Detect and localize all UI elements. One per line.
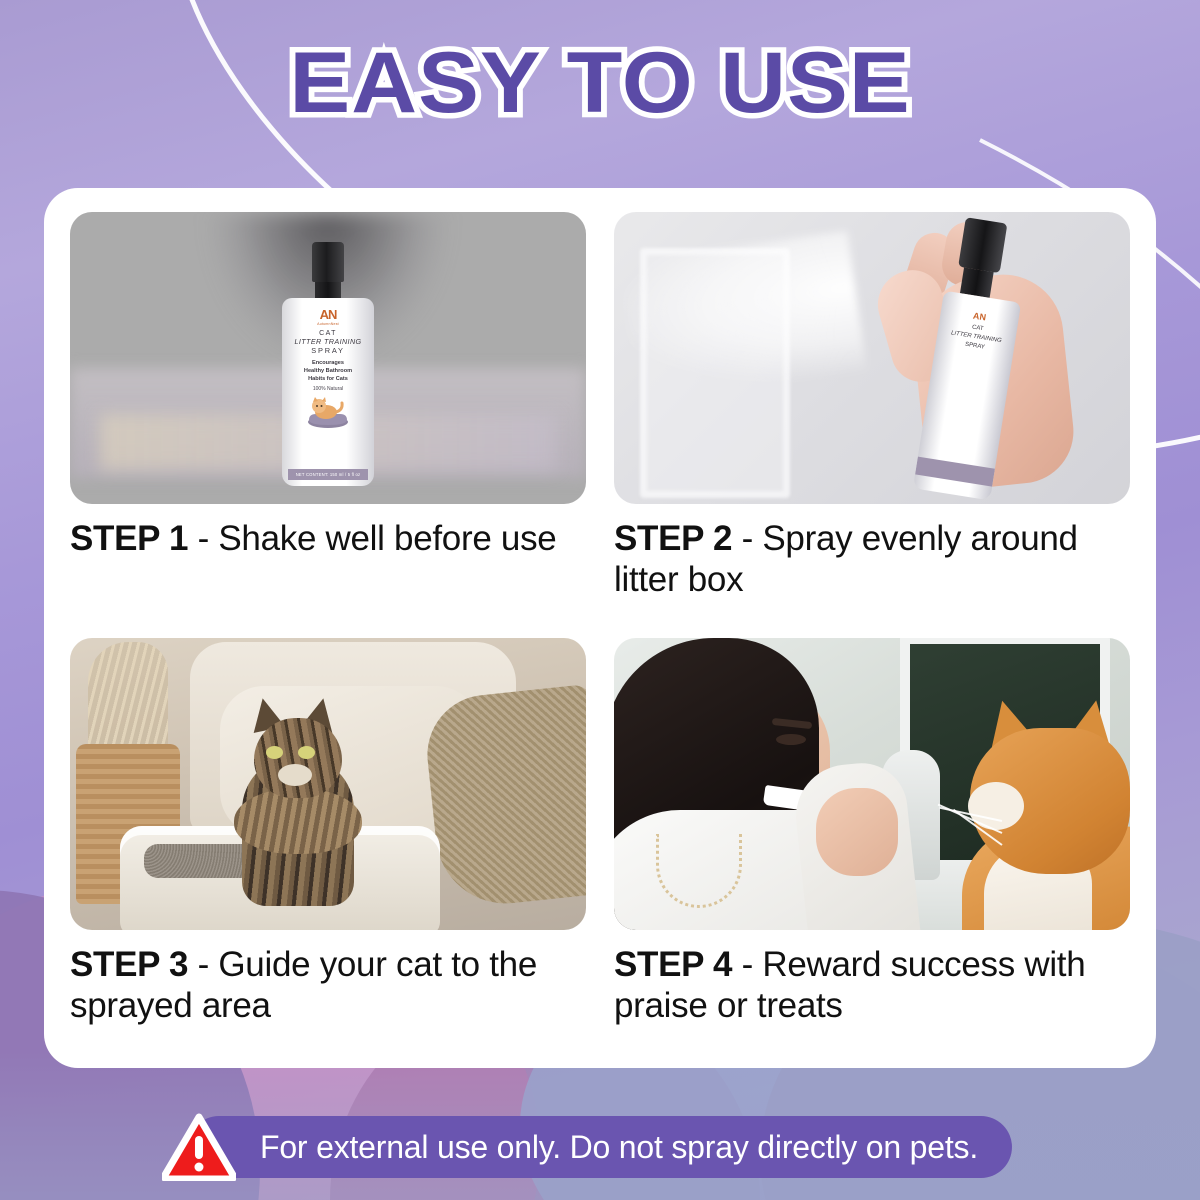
bottle-cap	[958, 217, 1007, 273]
cat-eye-right	[298, 746, 315, 759]
step-1-caption: STEP 1 - Shake well before use	[70, 518, 586, 559]
orange-cat	[922, 716, 1130, 930]
label-net-content-band	[915, 457, 995, 487]
step-1-lead: STEP 1	[70, 519, 188, 558]
label-desc-3: Habits for Cats	[308, 375, 348, 383]
label-cat-illustration	[305, 394, 351, 428]
bottle-body: AN AutumnNest CAT LITTER TRAINING SPRAY …	[282, 298, 374, 486]
brand-logo-name: AutumnNest	[317, 322, 339, 326]
cat-in-litter-box-photo	[70, 638, 586, 930]
woman	[614, 638, 894, 930]
label-net-content: NET CONTENT: 150 ml / 5 fl oz	[296, 472, 361, 477]
bottle-label-small: AN CAT LITTER TRAINING SPRAY	[944, 306, 1012, 356]
step-3-lead: STEP 3	[70, 945, 188, 984]
steps-card: AN AutumnNest CAT LITTER TRAINING SPRAY …	[44, 188, 1156, 1068]
bottle-label: AN AutumnNest CAT LITTER TRAINING SPRAY …	[288, 308, 368, 480]
step-4-caption: STEP 4 - Reward success with praise or t…	[614, 944, 1130, 1027]
woman-hand-with-treat	[816, 788, 898, 876]
cat-head	[254, 718, 342, 798]
step-2-lead: STEP 2	[614, 519, 732, 558]
brand-logo-mark: AN	[320, 308, 337, 321]
warning-triangle-icon	[162, 1113, 236, 1181]
label-natural-claim: 100% Natural	[313, 386, 343, 392]
step-4-lead: STEP 4	[614, 945, 732, 984]
header: EASY TO USE	[0, 0, 1200, 165]
cat-eye-left	[266, 746, 283, 759]
step-2: AN CAT LITTER TRAINING SPRAY STEP 2 - Sp…	[614, 212, 1130, 628]
tabby-cat	[228, 696, 364, 906]
label-line-cat: CAT	[319, 330, 337, 337]
step-2-caption: STEP 2 - Spray evenly around litter box	[614, 518, 1130, 601]
step-4: STEP 4 - Reward success with praise or t…	[614, 638, 1130, 1054]
page-title: EASY TO USE	[289, 40, 910, 126]
step-3: STEP 3 - Guide your cat to the sprayed a…	[70, 638, 586, 1054]
step-1-text: - Shake well before use	[188, 519, 556, 558]
warning-banner: For external use only. Do not spray dire…	[188, 1116, 1012, 1178]
label-desc-2: Healthy Bathroom	[304, 367, 352, 375]
spray-bottle-shaking-photo: AN AutumnNest CAT LITTER TRAINING SPRAY …	[70, 212, 586, 504]
label-line-spray: SPRAY	[311, 346, 345, 355]
cat-muzzle	[278, 764, 312, 786]
woven-pillow	[421, 684, 586, 911]
woman-rewarding-cat-photo	[614, 638, 1130, 930]
step-3-caption: STEP 3 - Guide your cat to the sprayed a…	[70, 944, 586, 1027]
label-line-litter-training: LITTER TRAINING	[294, 337, 361, 346]
warning-text: For external use only. Do not spray dire…	[260, 1129, 978, 1166]
woman-eye	[776, 734, 806, 745]
label-desc-1: Encourages	[312, 359, 344, 367]
step-1: AN AutumnNest CAT LITTER TRAINING SPRAY …	[70, 212, 586, 628]
bottle-cap	[312, 242, 344, 282]
product-bottle: AN AutumnNest CAT LITTER TRAINING SPRAY …	[282, 242, 374, 486]
bottle-nozzle	[315, 282, 341, 298]
hand-spraying-bottle-photo: AN CAT LITTER TRAINING SPRAY	[614, 212, 1130, 504]
label-net-content-band: NET CONTENT: 150 ml / 5 fl oz	[288, 469, 368, 480]
